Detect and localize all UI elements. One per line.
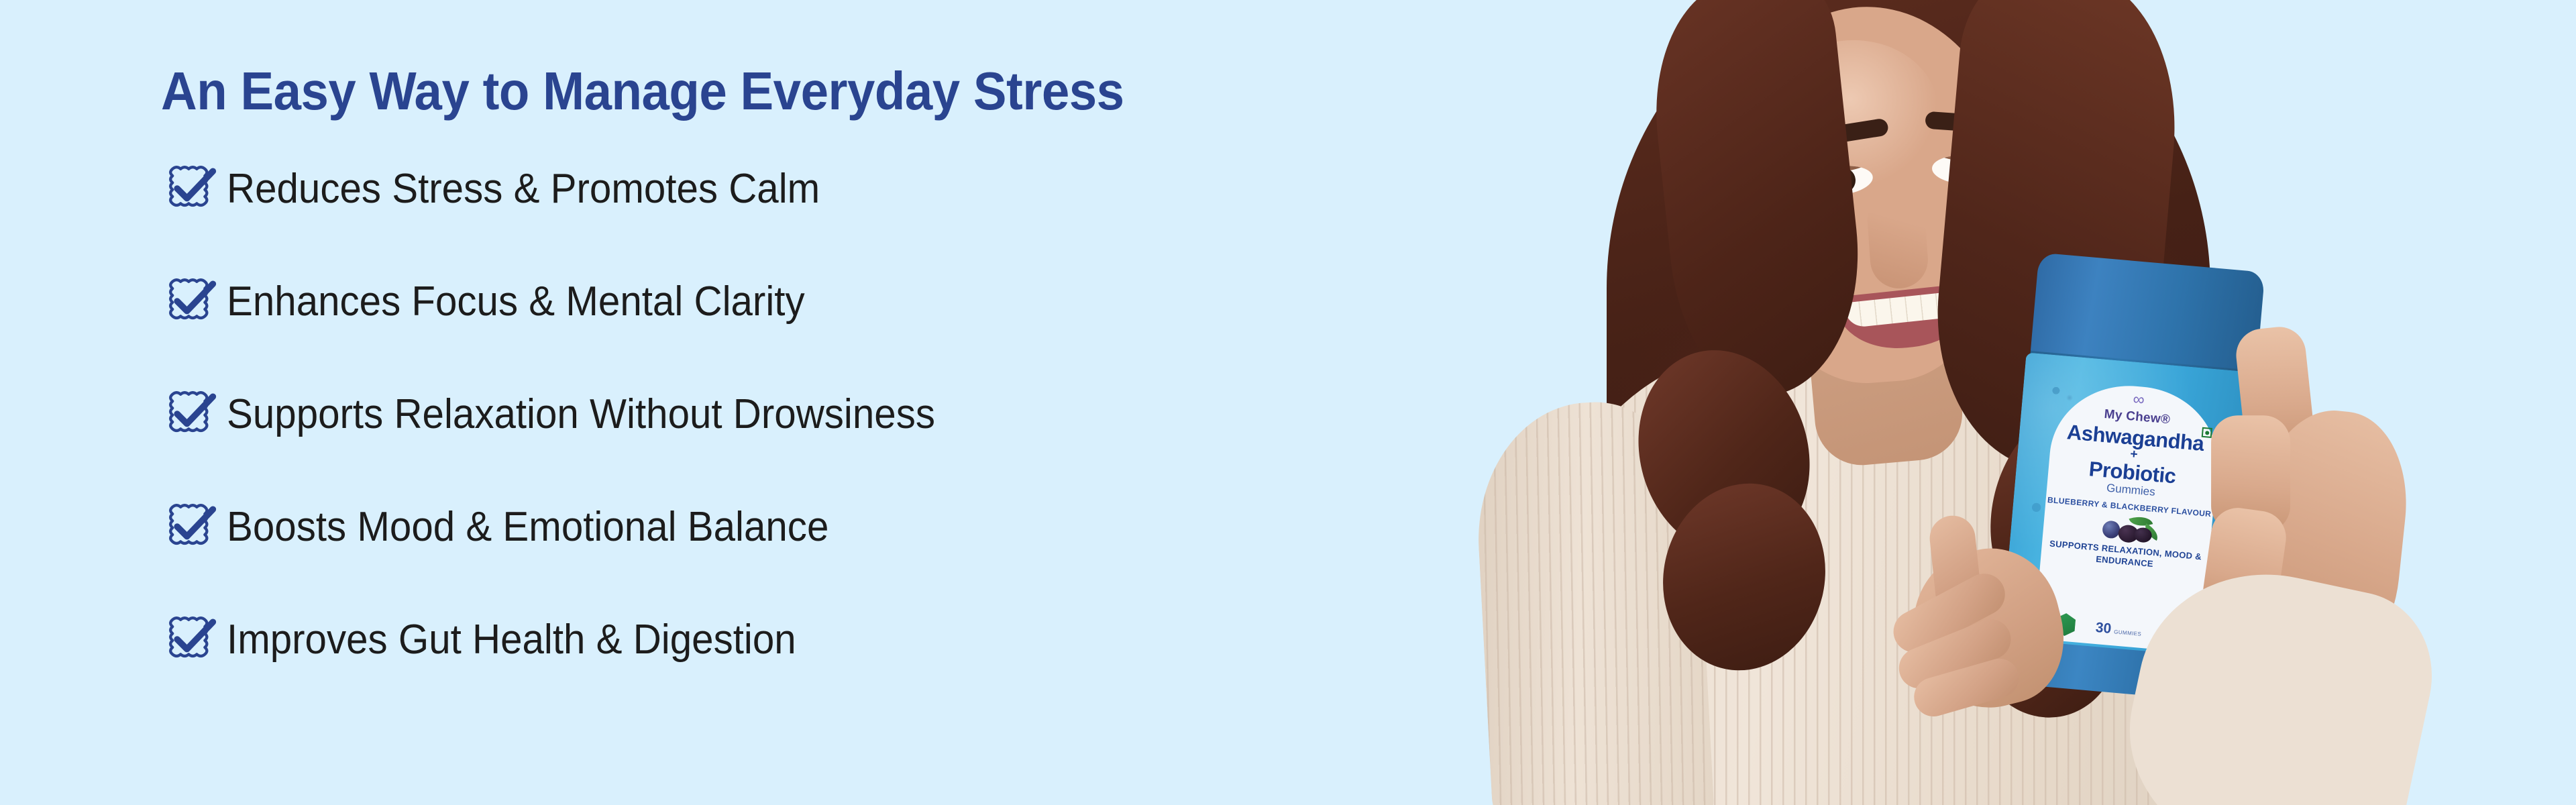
benefits-text-column: An Easy Way to Manage Everyday Stress Re…: [161, 64, 1503, 669]
check-badge-icon: [161, 498, 219, 555]
list-item: Boosts Mood & Emotional Balance: [161, 498, 1503, 556]
model-photo: ∞ My Chew® Ashwagandha + Probiotic Gummi…: [1462, 0, 2576, 805]
promo-banner: An Easy Way to Manage Everyday Stress Re…: [0, 0, 2576, 805]
list-item-label: Boosts Mood & Emotional Balance: [227, 506, 828, 548]
list-item: Supports Relaxation Without Drowsiness: [161, 386, 1503, 443]
check-badge-icon: [161, 385, 219, 443]
nose: [1866, 193, 1930, 290]
gummy-count-label: GUMMIES: [2114, 629, 2142, 637]
check-badge-icon: [161, 272, 219, 330]
list-item: Improves Gut Health & Digestion: [161, 611, 1503, 669]
list-item: Reduces Stress & Promotes Calm: [161, 160, 1503, 218]
list-item-label: Improves Gut Health & Digestion: [227, 619, 796, 661]
gummy-count: 30 GUMMIES: [2095, 621, 2142, 639]
list-item: Enhances Focus & Mental Clarity: [161, 273, 1503, 331]
check-badge-icon: [161, 610, 219, 668]
benefits-list: Reduces Stress & Promotes Calm Enhances …: [161, 160, 1503, 669]
list-item-label: Reduces Stress & Promotes Calm: [227, 168, 820, 210]
check-badge-icon: [161, 160, 219, 217]
gummy-count-number: 30: [2095, 620, 2112, 637]
page-title: An Easy Way to Manage Everyday Stress: [161, 64, 1409, 119]
blueberry-blackberry-illustration: [2098, 513, 2157, 545]
veg-mark-icon: [2202, 427, 2212, 438]
blueberry-icon: [2102, 521, 2121, 539]
list-item-label: Enhances Focus & Mental Clarity: [227, 281, 805, 323]
list-item-label: Supports Relaxation Without Drowsiness: [227, 394, 935, 435]
